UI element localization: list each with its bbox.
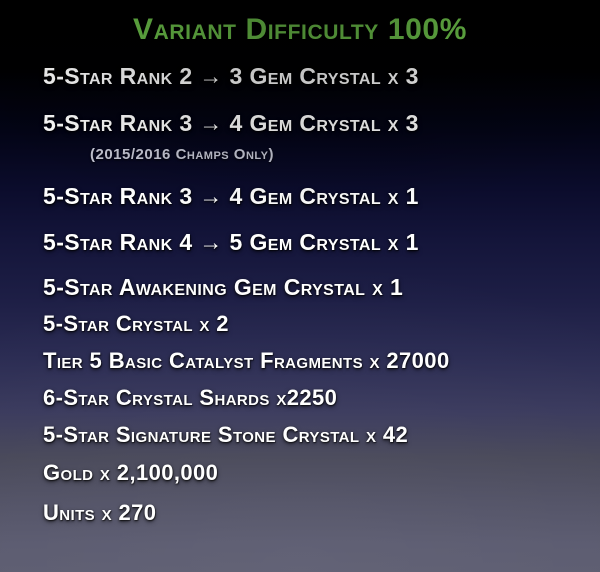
reward-item-4: 5-Star Rank 4 → 5 Gem Crystal x 1 <box>43 229 419 256</box>
reward-item-2: 5-Star Rank 3 → 4 Gem Crystal x 3 <box>43 110 419 137</box>
reward-item-9: 5-Star Signature Stone Crystal x 42 <box>43 422 408 448</box>
page-title: Variant Difficulty 100% <box>0 13 600 47</box>
reward-item-10: Gold x 2,100,000 <box>43 460 218 486</box>
reward-item-7: Tier 5 Basic Catalyst Fragments x 27000 <box>43 348 450 374</box>
reward-item-1: 5-Star Rank 2 → 3 Gem Crystal x 3 <box>43 63 419 90</box>
reward-item-5: 5-Star Awakening Gem Crystal x 1 <box>43 274 403 301</box>
reward-item-8: 6-Star Crystal Shards x2250 <box>43 385 337 411</box>
reward-item-6: 5-Star Crystal x 2 <box>43 311 229 337</box>
reward-list-screen: Variant Difficulty 100% 5-Star Rank 2 → … <box>0 0 600 572</box>
reward-item-11: Units x 270 <box>43 500 156 526</box>
reward-item-3: 5-Star Rank 3 → 4 Gem Crystal x 1 <box>43 183 419 210</box>
reward-item-2-note: (2015/2016 Champs Only) <box>90 146 274 163</box>
